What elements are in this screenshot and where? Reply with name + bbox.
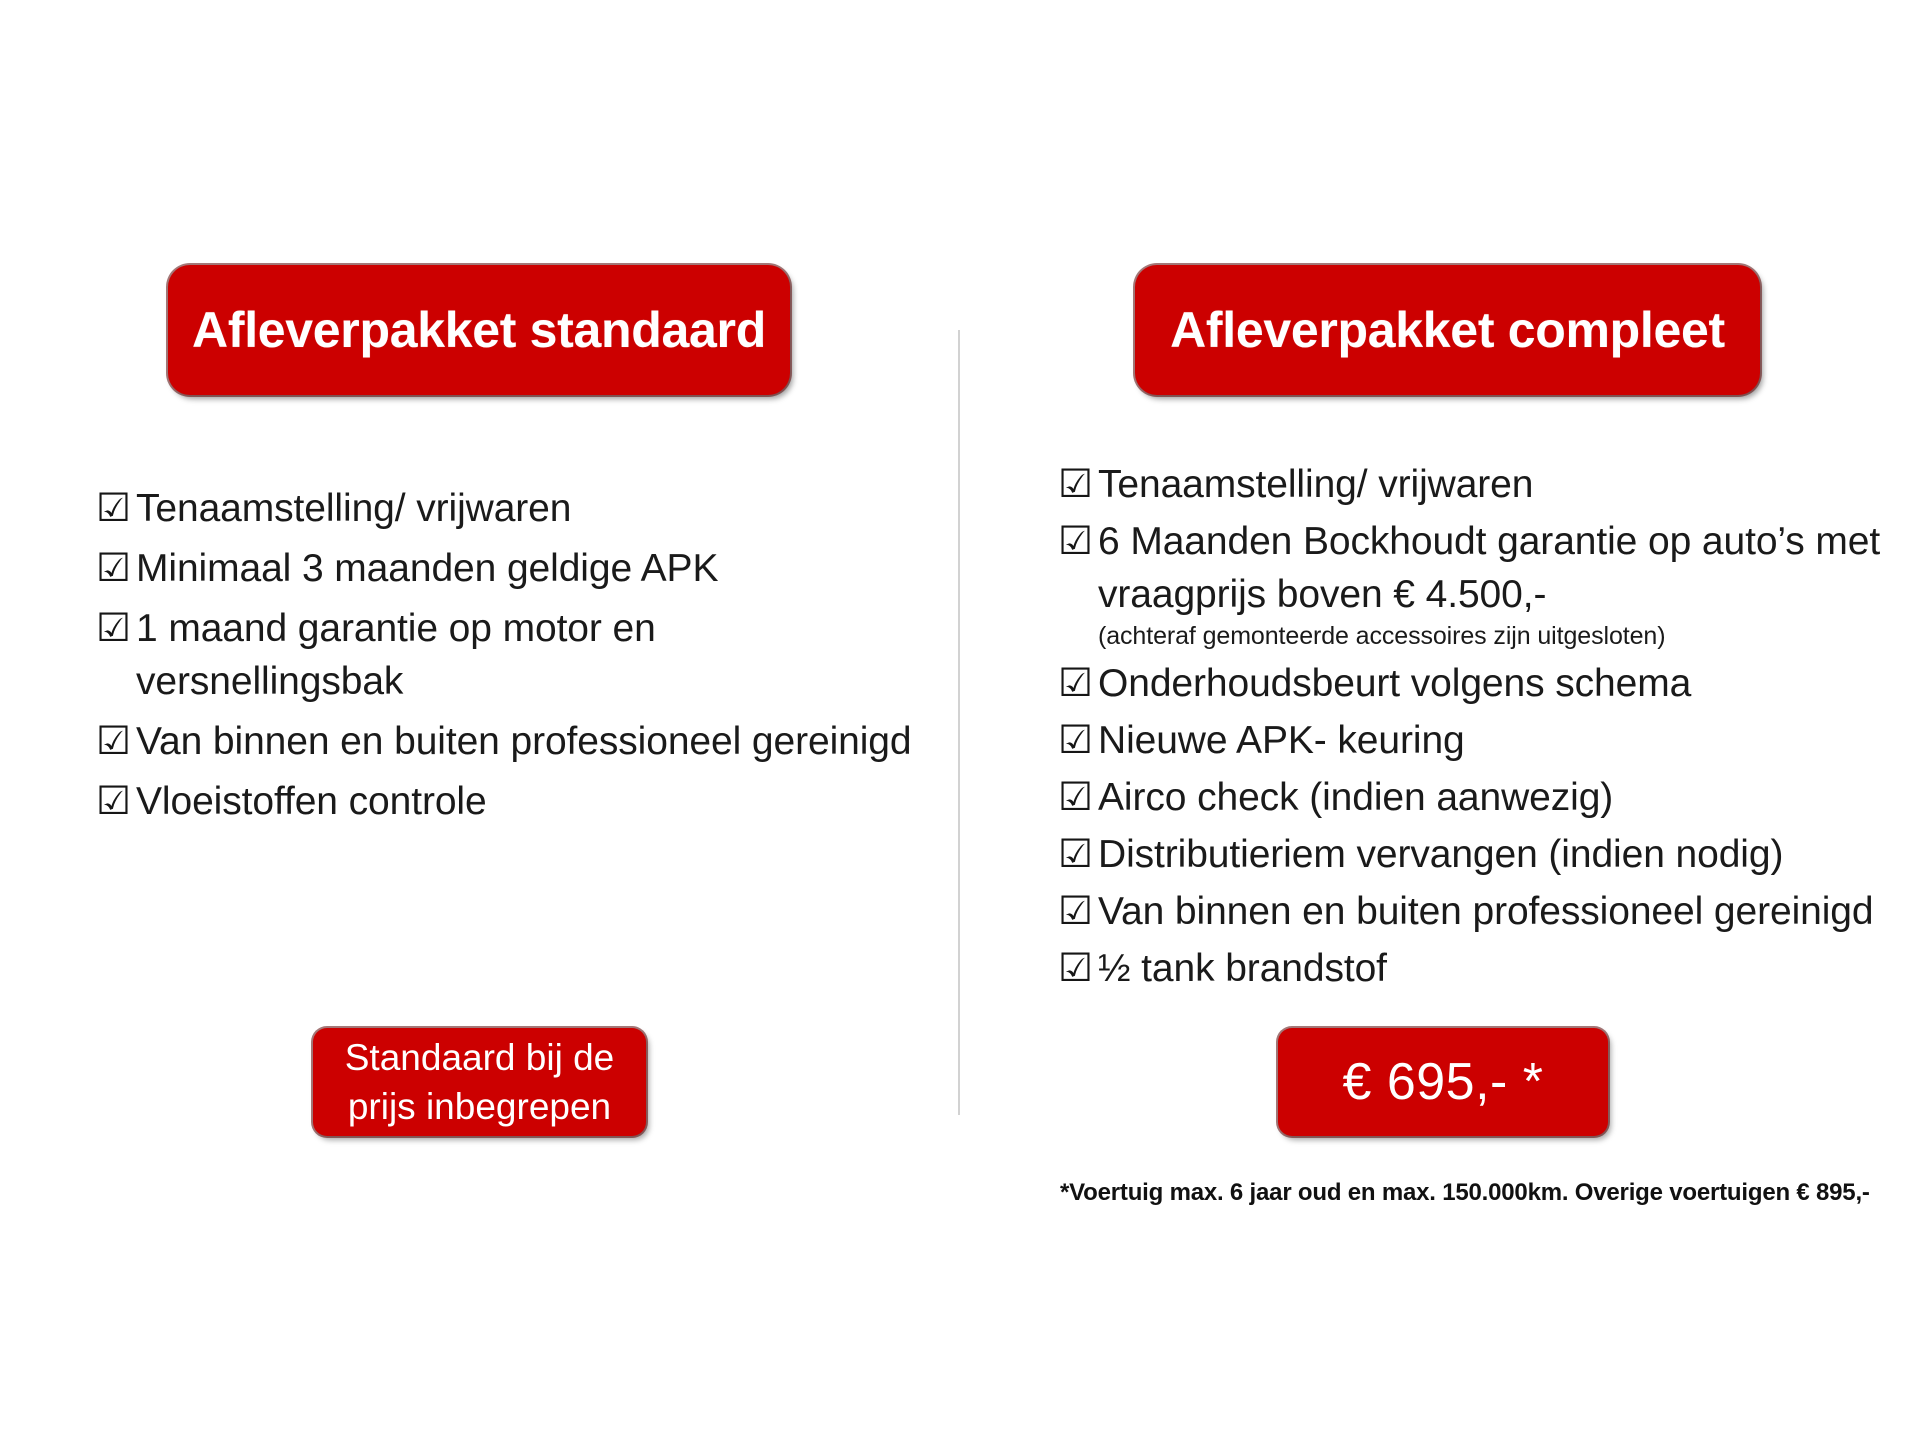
banner-standard: Afleverpakket standaard: [168, 265, 790, 395]
list-item: ☑ Tenaamstelling/ vrijwaren: [96, 482, 916, 535]
checkbox-checked-icon: ☑: [1058, 771, 1098, 824]
checkbox-checked-icon: ☑: [1058, 942, 1098, 995]
list-item: ☑ ½ tank brandstof: [1058, 942, 1918, 995]
checkbox-checked-icon: ☑: [96, 482, 136, 535]
checkbox-checked-icon: ☑: [96, 715, 136, 768]
price-badge-standard-label: Standaard bij de prijs inbegrepen: [331, 1033, 628, 1131]
checkbox-checked-icon: ☑: [96, 602, 136, 655]
banner-standard-title: Afleverpakket standaard: [192, 305, 766, 355]
list-item: ☑ Van binnen en buiten professioneel ger…: [1058, 885, 1918, 938]
list-item-text: 6 Maanden Bockhoudt garantie op auto’s m…: [1098, 520, 1880, 616]
checklist-standard: ☑ Tenaamstelling/ vrijwaren ☑ Minimaal 3…: [96, 482, 916, 835]
list-item-label: 6 Maanden Bockhoudt garantie op auto’s m…: [1098, 515, 1918, 653]
list-item-label: Van binnen en buiten professioneel gerei…: [136, 715, 916, 768]
list-item-label: Tenaamstelling/ vrijwaren: [136, 482, 916, 535]
list-item: ☑ Airco check (indien aanwezig): [1058, 771, 1918, 824]
checkbox-checked-icon: ☑: [1058, 458, 1098, 511]
package-column-standard: Afleverpakket standaard ☑ Tenaamstelling…: [0, 0, 958, 1440]
checklist-compleet: ☑ Tenaamstelling/ vrijwaren ☑ 6 Maanden …: [1058, 458, 1918, 999]
checkbox-checked-icon: ☑: [96, 542, 136, 595]
list-item-label: Minimaal 3 maanden geldige APK: [136, 542, 916, 595]
banner-compleet-title: Afleverpakket compleet: [1170, 305, 1725, 355]
list-item: ☑ 1 maand garantie op motor en versnelli…: [96, 602, 916, 708]
list-item-label: Airco check (indien aanwezig): [1098, 771, 1918, 824]
list-item-label: Onderhoudsbeurt volgens schema: [1098, 657, 1918, 710]
price-badge-compleet: € 695,- *: [1278, 1028, 1608, 1136]
checkbox-checked-icon: ☑: [1058, 515, 1098, 568]
list-item: ☑ Minimaal 3 maanden geldige APK: [96, 542, 916, 595]
checkbox-checked-icon: ☑: [1058, 657, 1098, 710]
checkbox-checked-icon: ☑: [96, 775, 136, 828]
list-item-label: ½ tank brandstof: [1098, 942, 1918, 995]
list-item: ☑ Nieuwe APK- keuring: [1058, 714, 1918, 767]
list-item-label: Vloeistoffen controle: [136, 775, 916, 828]
package-column-compleet: Afleverpakket compleet ☑ Tenaamstelling/…: [958, 0, 1920, 1440]
footnote-compleet: *Voertuig max. 6 jaar oud en max. 150.00…: [1060, 1177, 1920, 1209]
checkbox-checked-icon: ☑: [1058, 714, 1098, 767]
list-item-label: Distributieriem vervangen (indien nodig): [1098, 828, 1918, 881]
list-item: ☑ 6 Maanden Bockhoudt garantie op auto’s…: [1058, 515, 1918, 653]
list-item-label: Tenaamstelling/ vrijwaren: [1098, 458, 1918, 511]
list-item: ☑ Distributieriem vervangen (indien nodi…: [1058, 828, 1918, 881]
list-item-label: 1 maand garantie op motor en versnelling…: [136, 602, 916, 708]
checkbox-checked-icon: ☑: [1058, 885, 1098, 938]
checkbox-checked-icon: ☑: [1058, 828, 1098, 881]
list-item-label: Van binnen en buiten professioneel gerei…: [1098, 885, 1918, 938]
list-item: ☑ Vloeistoffen controle: [96, 775, 916, 828]
price-badge-compleet-label: € 695,- *: [1342, 1053, 1543, 1111]
list-item: ☑ Van binnen en buiten professioneel ger…: [96, 715, 916, 768]
list-item: ☑ Tenaamstelling/ vrijwaren: [1058, 458, 1918, 511]
list-item-label: Nieuwe APK- keuring: [1098, 714, 1918, 767]
slide-canvas: Afleverpakket standaard ☑ Tenaamstelling…: [0, 0, 1920, 1440]
list-item: ☑ Onderhoudsbeurt volgens schema: [1058, 657, 1918, 710]
banner-compleet: Afleverpakket compleet: [1135, 265, 1760, 395]
price-badge-standard: Standaard bij de prijs inbegrepen: [313, 1028, 646, 1136]
list-item-note: (achteraf gemonteerde accessoires zijn u…: [1098, 619, 1918, 653]
